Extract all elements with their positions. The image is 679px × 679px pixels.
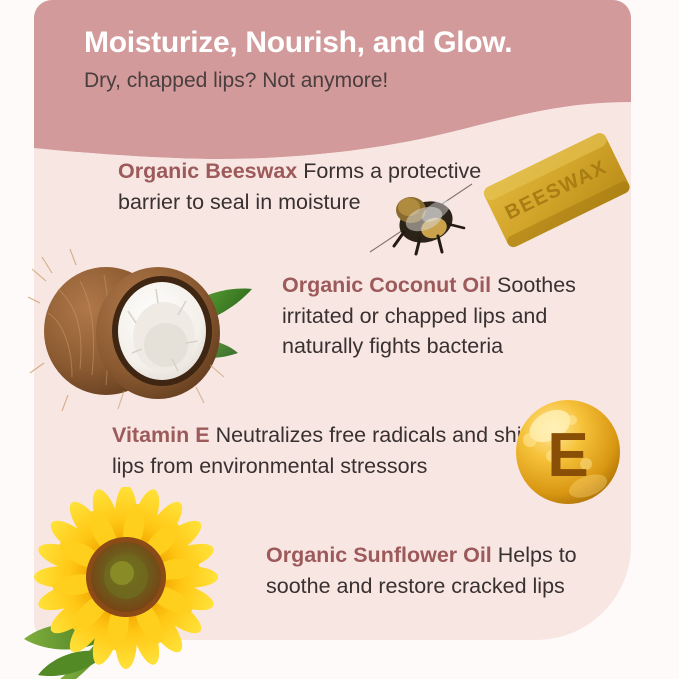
sunflower-icon [8, 487, 240, 679]
benefit-sunflower-lead: Organic Sunflower Oil [266, 543, 492, 567]
ingredient-benefits-infographic: Moisturize, Nourish, and Glow. Dry, chap… [0, 0, 679, 679]
benefit-coconut: Organic Coconut Oil Soothes irritated or… [282, 270, 631, 362]
benefit-sunflower: Organic Sunflower Oil Helps to soothe an… [266, 540, 626, 601]
benefit-coconut-text: Organic Coconut Oil Soothes irritated or… [282, 270, 631, 362]
benefit-sunflower-text: Organic Sunflower Oil Helps to soothe an… [266, 540, 626, 601]
vitamin-e-capsule-icon: E [506, 394, 630, 516]
coconut-icon [28, 245, 260, 413]
page-title: Moisturize, Nourish, and Glow. [84, 26, 604, 59]
benefit-vitamin-e-lead: Vitamin E [112, 423, 210, 447]
bee-icon [368, 178, 484, 262]
benefit-beeswax-lead: Organic Beeswax [118, 159, 297, 183]
benefit-coconut-lead: Organic Coconut Oil [282, 273, 491, 297]
page-subtitle: Dry, chapped lips? Not anymore! [84, 68, 604, 93]
benefit-vitamin-e: Vitamin E Neutralizes free radicals and … [112, 420, 562, 481]
vitamin-e-letter: E [547, 421, 588, 490]
beeswax-bar-icon: BEESWAX [468, 118, 640, 258]
benefit-vitamin-e-text: Vitamin E Neutralizes free radicals and … [112, 420, 562, 481]
header-text-block: Moisturize, Nourish, and Glow. Dry, chap… [84, 26, 604, 93]
